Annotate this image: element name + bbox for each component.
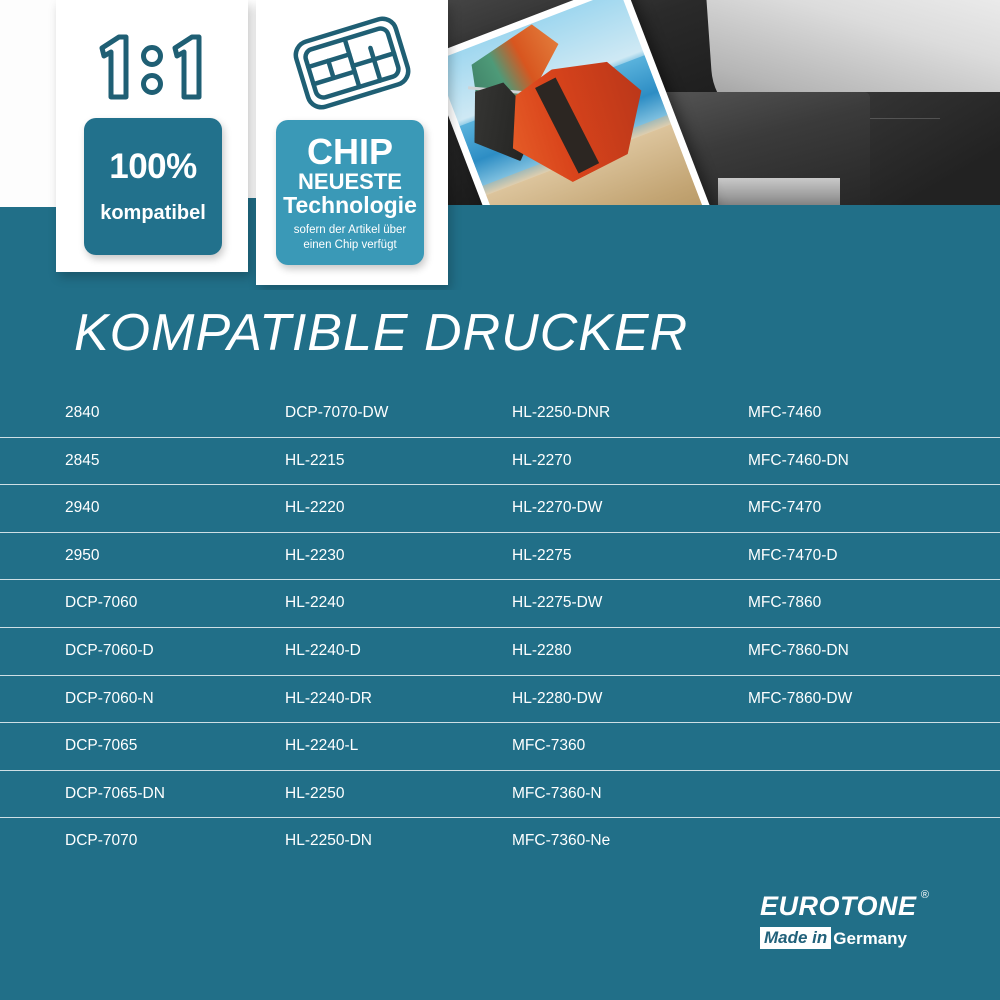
table-cell: 2840 (65, 390, 99, 437)
table-cell: HL-2215 (285, 438, 344, 485)
table-cell: 2845 (65, 438, 99, 485)
table-cell: HL-2240 (285, 580, 344, 627)
logo-brand-text: EUROTONE ® (760, 893, 917, 920)
table-cell: HL-2250-DN (285, 818, 372, 865)
table-cell: MFC-7360 (512, 723, 585, 770)
table-cell: DCP-7065 (65, 723, 137, 770)
table-cell: HL-2270 (512, 438, 571, 485)
registered-trademark-icon: ® (921, 890, 930, 901)
badge-chip-title: CHIP (307, 133, 393, 170)
table-cell: DCP-7060-D (65, 628, 154, 675)
hero-banner: 100% kompatibel CHIP NEUESTE Technologie… (0, 0, 1000, 290)
table-cell: DCP-7070-DW (285, 390, 388, 437)
logo-made-in-label: Made in (760, 927, 831, 949)
table-cell: HL-2275-DW (512, 580, 602, 627)
badge-100-value: 100% (109, 149, 197, 184)
badge-chip-subtitle-1: NEUESTE (298, 171, 402, 193)
logo-brand-label: EUROTONE (760, 891, 917, 921)
table-cell: MFC-7460 (748, 390, 821, 437)
table-cell: HL-2240-D (285, 628, 361, 675)
table-cell: DCP-7060 (65, 580, 137, 627)
table-cell: MFC-7860 (748, 580, 821, 627)
table-row: 2940HL-2220HL-2270-DWMFC-7470 (0, 485, 1000, 533)
table-cell: HL-2270-DW (512, 485, 602, 532)
table-cell: MFC-7470 (748, 485, 821, 532)
printer-tray-foot (718, 178, 840, 205)
table-row: DCP-7060-NHL-2240-DRHL-2280-DWMFC-7860-D… (0, 676, 1000, 724)
logo-country-label: Germany (831, 930, 907, 947)
table-cell: HL-2230 (285, 533, 344, 580)
badge-chip-newest-technology: CHIP NEUESTE Technologie sofern der Arti… (276, 120, 424, 265)
badge-chip-note-2: einen Chip verfügt (303, 238, 396, 252)
chip-icon (256, 8, 448, 118)
table-row: DCP-7065-DNHL-2250MFC-7360-N (0, 771, 1000, 819)
table-cell: 2940 (65, 485, 99, 532)
table-cell: HL-2280 (512, 628, 571, 675)
ratio-1-to-1-icon (56, 24, 248, 110)
table-cell: HL-2240-DR (285, 676, 372, 723)
table-row: 2840DCP-7070-DWHL-2250-DNRMFC-7460 (0, 390, 1000, 438)
table-cell: HL-2250 (285, 771, 344, 818)
compatible-printers-table: 2840DCP-7070-DWHL-2250-DNRMFC-74602845HL… (0, 390, 1000, 865)
eurotone-logo: EUROTONE ® Made in Germany (760, 893, 960, 955)
table-cell: HL-2280-DW (512, 676, 602, 723)
printer-photo (400, 0, 1000, 205)
badge-chip-note-1: sofern der Artikel über (294, 223, 407, 237)
table-cell: HL-2220 (285, 485, 344, 532)
table-cell: DCP-7065-DN (65, 771, 165, 818)
table-row: DCP-7060HL-2240HL-2275-DWMFC-7860 (0, 580, 1000, 628)
logo-made-in-germany: Made in Germany (760, 927, 907, 949)
table-cell: HL-2275 (512, 533, 571, 580)
panel-left-edge (0, 0, 56, 207)
table-row: DCP-7070HL-2250-DNMFC-7360-Ne (0, 818, 1000, 865)
table-cell: MFC-7470-D (748, 533, 838, 580)
table-cell: MFC-7460-DN (748, 438, 849, 485)
table-row: 2845HL-2215HL-2270MFC-7460-DN (0, 438, 1000, 486)
page-title: KOMPATIBLE DRUCKER (74, 303, 688, 363)
table-cell: MFC-7360-N (512, 771, 602, 818)
page-root: 100% kompatibel CHIP NEUESTE Technologie… (0, 0, 1000, 1000)
table-row: DCP-7065HL-2240-LMFC-7360 (0, 723, 1000, 771)
table-row: DCP-7060-DHL-2240-DHL-2280MFC-7860-DN (0, 628, 1000, 676)
badge-100-label: kompatibel (100, 202, 206, 225)
table-cell: 2950 (65, 533, 99, 580)
table-cell: MFC-7360-Ne (512, 818, 610, 865)
table-row: 2950HL-2230HL-2275MFC-7470-D (0, 533, 1000, 581)
badge-chip-subtitle-2: Technologie (283, 194, 417, 217)
table-cell: DCP-7070 (65, 818, 137, 865)
table-cell: HL-2250-DNR (512, 390, 610, 437)
badge-100-percent-compatible: 100% kompatibel (84, 118, 222, 255)
table-cell: MFC-7860-DN (748, 628, 849, 675)
table-cell: HL-2240-L (285, 723, 358, 770)
table-cell: DCP-7060-N (65, 676, 154, 723)
table-cell: MFC-7860-DW (748, 676, 852, 723)
